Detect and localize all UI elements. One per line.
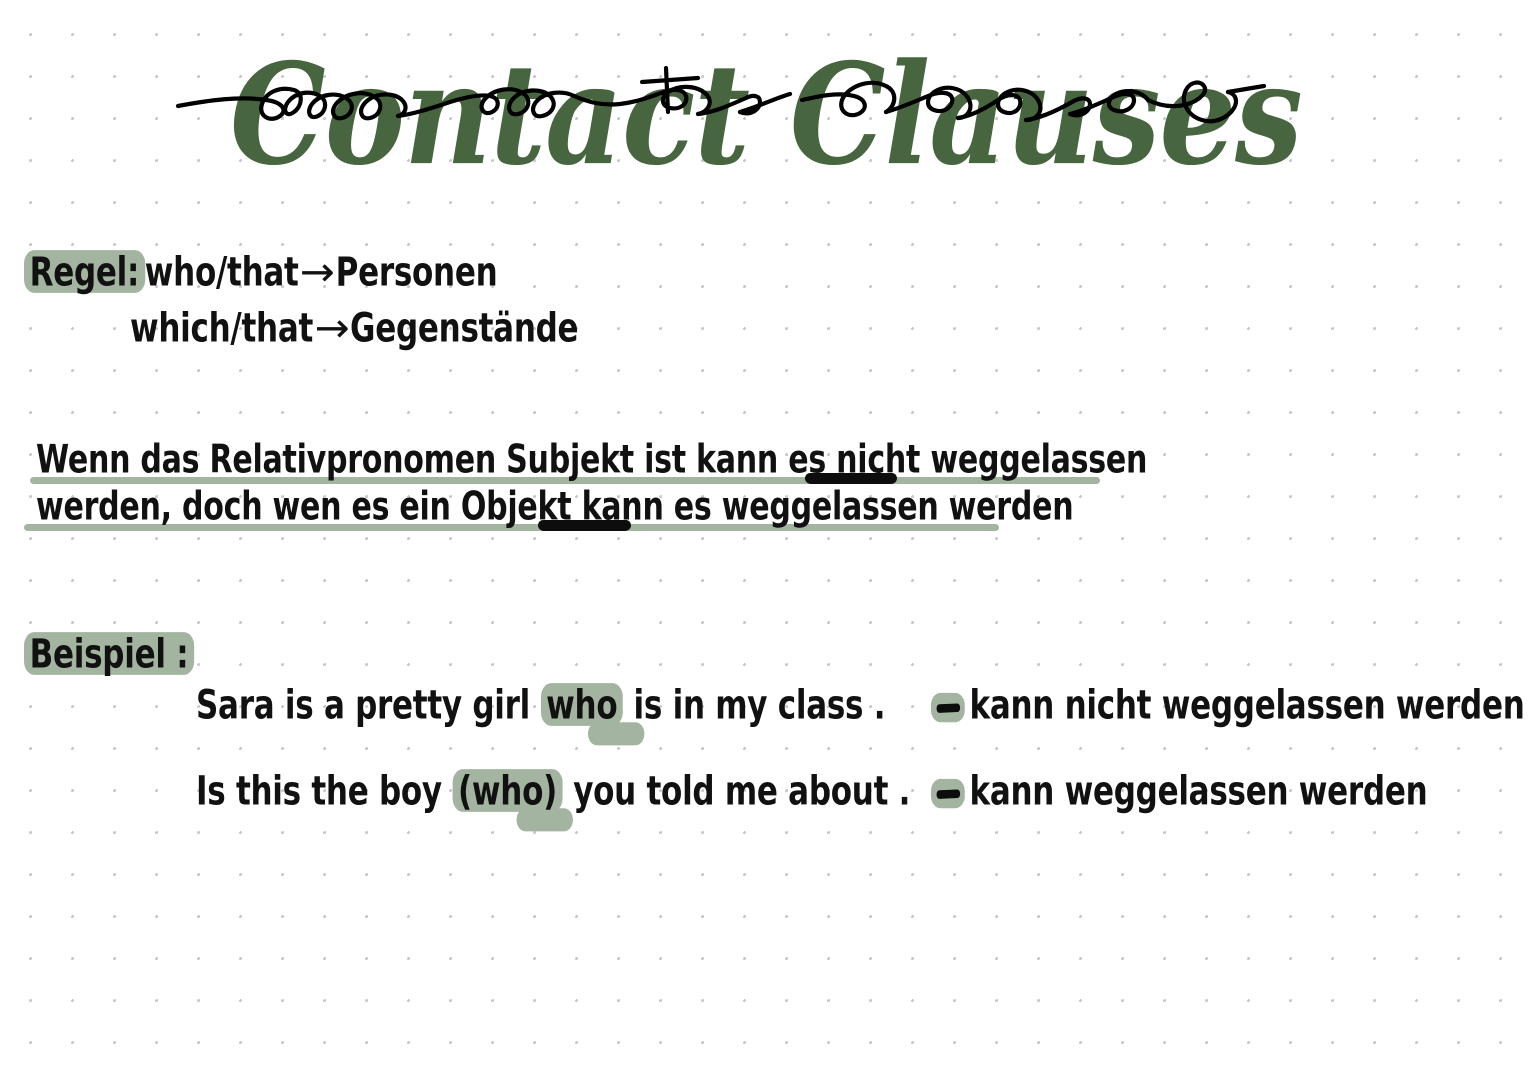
example-1-before: Sara is a pretty girl — [196, 681, 541, 729]
rule-para-2-emph: kann — [582, 483, 664, 529]
rule-para-1b: weggelassen — [920, 436, 1147, 482]
arrow-right-icon: → — [292, 248, 342, 296]
example-1-after: is in my class . — [623, 681, 885, 729]
arrow-right-icon: → — [307, 304, 357, 352]
example-section-label: Beispiel : — [24, 630, 194, 678]
rule-line-2: which/that→Gegenstände — [130, 304, 578, 352]
rule-paragraph-line-1: Wenn das Relativpronomen Subjekt ist kan… — [30, 440, 1130, 487]
rule-para-2a: werden, doch wen es ein Objekt — [36, 483, 582, 529]
rule-line-1: Regel:who/that→Personen — [24, 248, 497, 296]
rule-2-left: which/that — [130, 304, 313, 352]
dash-marker-icon — [930, 775, 968, 812]
page-title: Contact Clauses — [170, 38, 1270, 188]
dash-marker-icon — [930, 689, 968, 726]
example-note-1: kann nicht weggelassen werden — [930, 681, 1525, 729]
example-label-text: Beispiel : — [30, 630, 189, 678]
example-2-after: you told me about . — [563, 767, 910, 815]
rule-para-1a: Wenn das Relativpronomen Subjekt ist kan… — [36, 436, 836, 482]
rule-1-right: Personen — [336, 248, 498, 296]
rule-1-left: who/that — [145, 248, 299, 296]
rule-2-right: Gegenstände — [350, 304, 578, 352]
rule-para-1-emph: nicht — [836, 436, 920, 482]
example-sentence-2: Is this the boy (who) you told me about … — [196, 767, 910, 815]
rule-paragraph: Wenn das Relativpronomen Subjekt ist kan… — [30, 440, 1130, 534]
example-1-highlight: who — [541, 681, 623, 729]
example-2-before: Is this the boy — [196, 767, 452, 815]
example-2-highlight: (who) — [452, 767, 562, 815]
example-1-keyword: who — [546, 681, 617, 729]
rule-label-highlight: Regel: — [24, 248, 145, 296]
rule-label: Regel: — [30, 248, 140, 296]
example-2-note-text: kann weggelassen werden — [969, 767, 1427, 815]
rule-paragraph-line-2: werden, doch wen es ein Objekt kann es w… — [30, 487, 1130, 534]
example-sentence-1: Sara is a pretty girl who is in my class… — [196, 681, 885, 729]
example-label-highlight: Beispiel : — [24, 630, 194, 678]
example-1-note-text: kann nicht weggelassen werden — [969, 681, 1524, 729]
page-title-text: Contact Clauses — [230, 38, 1302, 191]
example-note-2: kann weggelassen werden — [930, 767, 1427, 815]
rule-para-2b: es weggelassen werden — [664, 483, 1074, 529]
notes-page: Contact Clauses — [0, 0, 1531, 1080]
example-2-keyword: (who) — [458, 767, 557, 815]
